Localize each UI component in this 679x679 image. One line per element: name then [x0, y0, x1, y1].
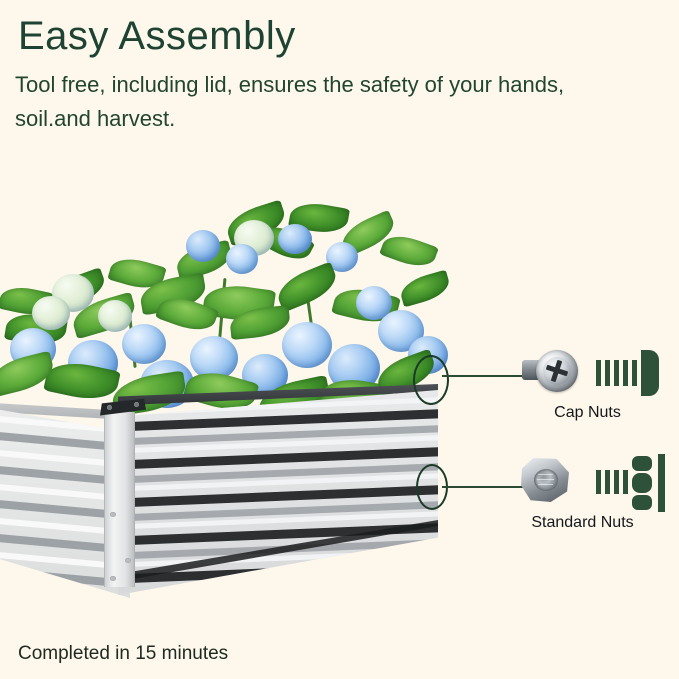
page-title: Easy Assembly — [18, 14, 296, 58]
cap-nuts-label: Cap Nuts — [500, 404, 675, 422]
cap-nut-highlight-ring — [413, 355, 449, 405]
post-bolt-upper — [110, 512, 116, 517]
hex-nut-photo — [521, 458, 569, 502]
product-scene: Cap Nuts — [0, 150, 679, 620]
callout-standard-nuts: Standard Nuts — [495, 452, 670, 514]
raised-garden-bed — [0, 390, 450, 605]
callout-cap-nuts: Cap Nuts — [500, 342, 675, 404]
standard-nuts-label: Standard Nuts — [495, 514, 670, 532]
post-bolt-lower — [110, 576, 116, 581]
completion-time-caption: Completed in 15 minutes — [18, 643, 228, 665]
product-feature-image: Easy Assembly Tool free, including lid, … — [0, 0, 679, 679]
post-bolt-mid — [125, 558, 131, 563]
box-front-panel — [118, 390, 438, 595]
page-subtitle: Tool free, including lid, ensures the sa… — [15, 68, 635, 136]
